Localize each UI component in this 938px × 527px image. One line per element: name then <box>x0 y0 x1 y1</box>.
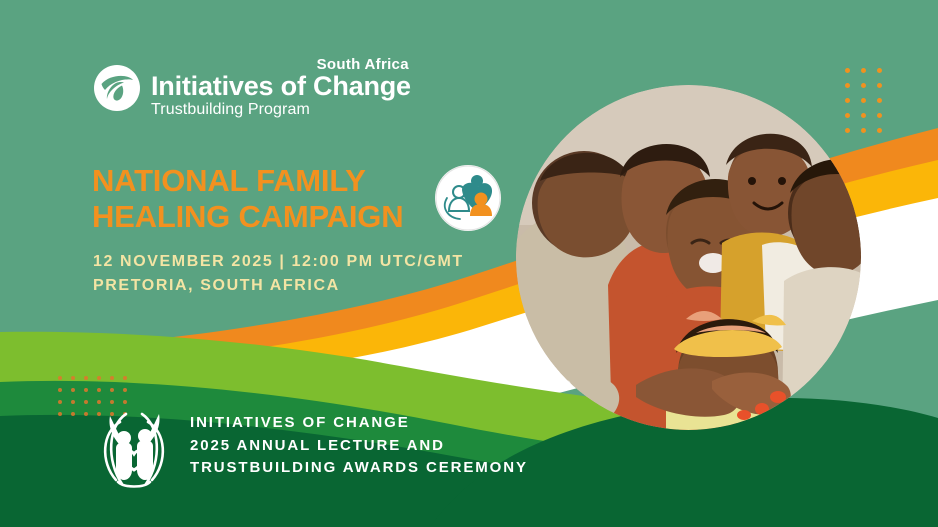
ioc-logo-lockup: South Africa Initiatives of Change Trust… <box>94 57 411 118</box>
headline-line-2: HEALING CAMPAIGN <box>92 199 452 235</box>
headline-line-1: NATIONAL FAMILY <box>92 163 452 199</box>
dot-grid-icon-top-right <box>845 68 893 143</box>
trustbuilding-awards-emblem-icon <box>92 400 176 492</box>
poster-canvas: South Africa Initiatives of Change Trust… <box>0 0 938 527</box>
page-title: NATIONAL FAMILY HEALING CAMPAIGN <box>92 163 452 235</box>
event-datetime: 12 NOVEMBER 2025 | 12:00 PM UTC/GMT <box>93 250 464 274</box>
event-details: 12 NOVEMBER 2025 | 12:00 PM UTC/GMT PRET… <box>93 250 464 298</box>
logo-eyebrow: South Africa <box>151 57 411 72</box>
footer-text: INITIATIVES OF CHANGE 2025 ANNUAL LECTUR… <box>190 412 528 481</box>
family-embrace-photo-illustration <box>516 85 861 430</box>
footer-lockup: INITIATIVES OF CHANGE 2025 ANNUAL LECTUR… <box>92 400 528 492</box>
footer-line-1: INITIATIVES OF CHANGE <box>190 412 528 435</box>
footer-line-3: TRUSTBUILDING AWARDS CEREMONY <box>190 457 528 480</box>
family-embrace-photo <box>516 85 861 430</box>
logo-title: Initiatives of Change <box>151 73 411 100</box>
footer-line-2: 2025 ANNUAL LECTURE AND <box>190 435 528 458</box>
logo-subtitle: Trustbuilding Program <box>151 102 411 118</box>
event-location: PRETORIA, SOUTH AFRICA <box>93 274 464 298</box>
family-care-badge-icon <box>434 164 502 232</box>
ioc-leaf-circle-logo-icon <box>94 65 140 111</box>
